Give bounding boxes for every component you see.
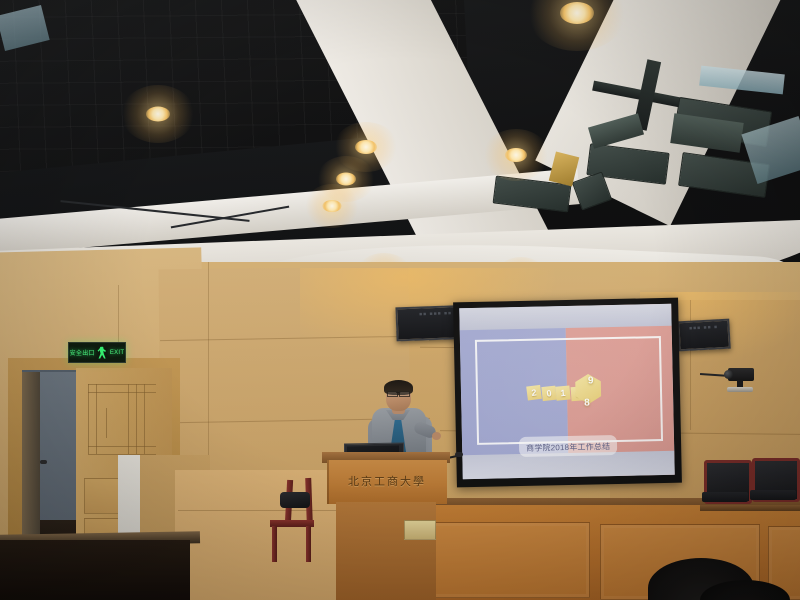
- auditorium-seat-cushion[interactable]: [750, 490, 796, 500]
- auditorium-photo: 安全出口 EXIT ■■ ■■■ ■■ ■■■ ■■ ■ 2 0 1 8 9 8…: [0, 0, 800, 600]
- projection-screen: 2 0 1 8 9 8 商学院2018年工作总结: [459, 304, 675, 479]
- exit-sign-label: EXIT: [110, 350, 125, 356]
- ceiling-downlight: [505, 148, 527, 162]
- camera-bracket: [727, 387, 753, 392]
- ceiling-downlight: [560, 2, 594, 24]
- slide-top-band: [459, 304, 671, 331]
- year-digit-block: 0: [541, 385, 556, 400]
- auditorium-seat-cushion[interactable]: [702, 492, 748, 502]
- camera-lens-icon: [724, 370, 733, 379]
- wall-seam: [118, 285, 119, 345]
- stage-panel: [430, 522, 590, 598]
- eyeglasses-icon: [387, 391, 410, 395]
- slide-title-container: 商学院2018年工作总结: [519, 435, 618, 457]
- podium-base: [336, 502, 436, 600]
- exit-sign: 安全出口 EXIT: [68, 342, 126, 363]
- chair-leg: [272, 526, 277, 562]
- ceiling-downlight: [355, 140, 377, 154]
- open-door-edge[interactable]: [22, 372, 40, 558]
- year-digit-block: 1: [556, 386, 571, 401]
- cube-face-top-digit: 9: [588, 376, 594, 387]
- door-handle[interactable]: [40, 460, 47, 464]
- floor: [0, 540, 190, 600]
- slide-title: 商学院2018年工作总结: [526, 443, 610, 454]
- cube-face-front-digit: 8: [584, 398, 590, 409]
- ceiling-downlight: [336, 172, 356, 185]
- led-display-text: ■■■ ■■ ■: [679, 321, 728, 335]
- institution-name: 北京工商大學: [348, 473, 426, 489]
- exit-sign-secondary-label: 安全出口: [70, 348, 95, 357]
- chair-leg: [306, 526, 311, 562]
- ceiling-downlight: [146, 106, 170, 121]
- object-on-chair: [280, 492, 310, 508]
- podium-nameplate: 北京工商大學: [338, 470, 436, 492]
- year-digit-block: 2: [526, 385, 542, 401]
- speaker-hand: [432, 432, 441, 440]
- wall-seam: [690, 300, 691, 430]
- wall-seam: [208, 262, 209, 462]
- running-man-icon: [97, 347, 108, 359]
- led-info-display-right: ■■■ ■■ ■: [677, 319, 730, 352]
- ceiling-downlight: [322, 200, 341, 212]
- microphone-head: [455, 452, 463, 457]
- podium-side-plate: [404, 520, 436, 540]
- seat-rail: [700, 505, 800, 511]
